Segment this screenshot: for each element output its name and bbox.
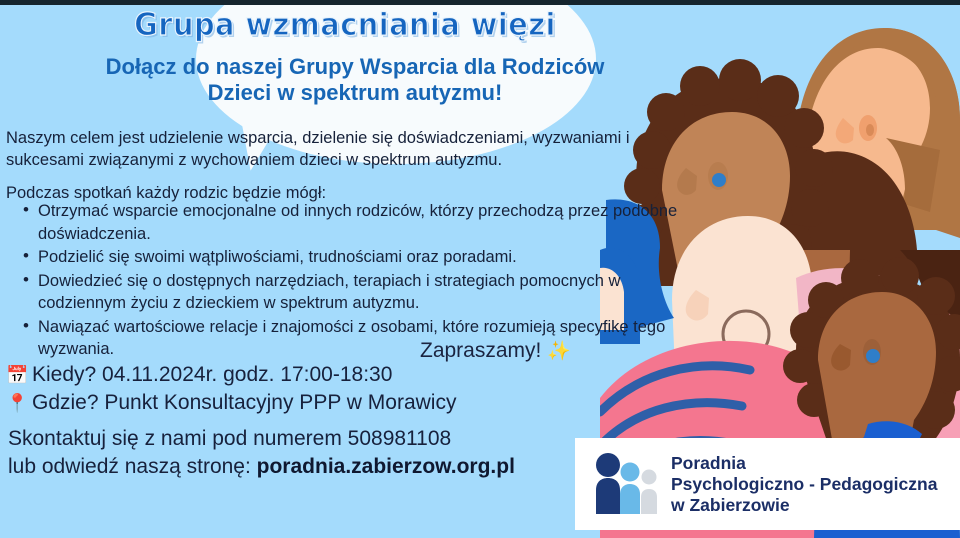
logo-line-3: w Zabierzowie [671,495,937,516]
subtitle-line-1: Dołącz do naszej Grupy Wsparcia dla Rodz… [20,54,690,80]
list-item: Otrzymać wsparcie emocjonalne od innych … [38,200,686,245]
organization-logo-box: Poradnia Psychologiczno - Pedagogiczna w… [575,438,960,530]
website-link[interactable]: poradnia.zabierzow.org.pl [257,455,515,478]
event-location-text: Gdzie? Punkt Konsultacyjny PPP w Morawic… [32,391,456,414]
logo-line-1: Poradnia [671,453,937,474]
intro-paragraph: Naszym celem jest udzielenie wsparcia, d… [6,127,656,171]
list-item: Dowiedzieć się o dostępnych narzędziach,… [38,270,686,315]
top-edge-strip [0,0,960,5]
sparkles-icon: ✨ [547,341,571,362]
organization-name: Poradnia Psychologiczno - Pedagogiczna w… [671,453,937,516]
event-date-line: 📅Kiedy? 04.11.2024r. godz. 17:00-18:30 [6,363,392,387]
subtitle: Dołącz do naszej Grupy Wsparcia dla Rodz… [20,54,690,106]
map-pin-icon: 📍 [6,393,32,414]
event-date-text: Kiedy? 04.11.2024r. godz. 17:00-18:30 [32,363,392,386]
website-prefix: lub odwiedź naszą stronę: [8,455,257,478]
list-item: Nawiązać wartościowe relacje i znajomośc… [38,316,686,361]
contact-phone-line: Skontaktuj się z nami pod numerem 508981… [8,427,451,451]
contact-website-line: lub odwiedź naszą stronę: poradnia.zabie… [8,455,515,479]
invitation-label: Zapraszamy! [420,339,541,362]
three-people-logo-icon [589,450,665,518]
calendar-icon: 📅 [6,365,32,386]
subtitle-line-2: Dzieci w spektrum autyzmu! [20,80,690,106]
list-item: Podzielić się swoimi wątpliwościami, tru… [38,246,686,269]
poster-canvas: Grupa wzmacniania więzi Dołącz do naszej… [0,0,960,538]
page-title: Grupa wzmacniania więzi [24,7,666,43]
benefits-list: Otrzymać wsparcie emocjonalne od innych … [12,200,686,362]
event-location-line: 📍Gdzie? Punkt Konsultacyjny PPP w Morawi… [6,391,456,415]
invitation-text: Zapraszamy! ✨ [420,339,571,363]
logo-line-2: Psychologiczno - Pedagogiczna [671,474,937,495]
